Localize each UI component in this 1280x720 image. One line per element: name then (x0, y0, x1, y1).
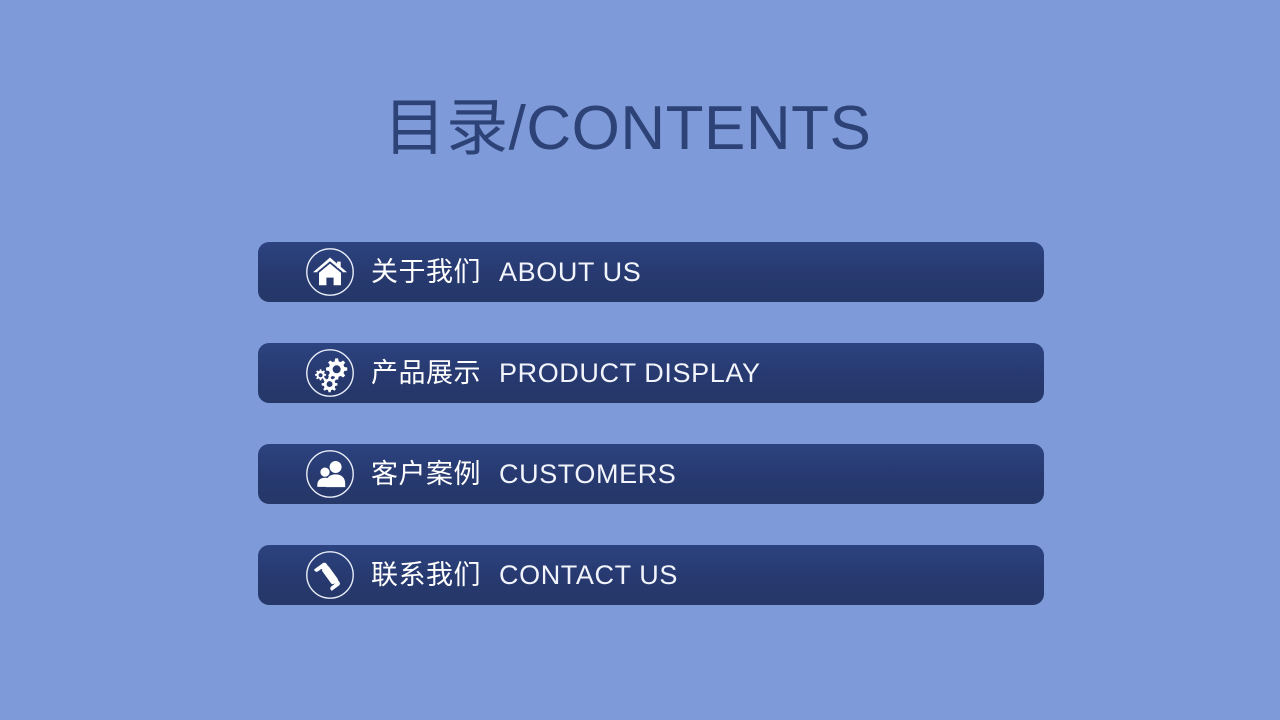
contents-item-customers[interactable]: 客户案例 CUSTOMERS (258, 444, 1044, 504)
home-icon (305, 247, 355, 297)
gears-icon (305, 348, 355, 398)
contents-item-label-cn: 关于我们 (371, 259, 481, 286)
contents-item-label-cn: 客户案例 (371, 461, 481, 488)
contents-item-product-display[interactable]: 产品展示 PRODUCT DISPLAY (258, 343, 1044, 403)
contents-item-label: 联系我们 CONTACT US (371, 562, 678, 589)
contents-list: 关于我们 ABOUT US (258, 242, 1044, 605)
contents-item-label-cn: 产品展示 (371, 360, 481, 387)
contents-item-label-en: ABOUT US (499, 259, 641, 286)
contents-item-label-en: CONTACT US (499, 562, 678, 589)
contents-item-label: 客户案例 CUSTOMERS (371, 461, 676, 488)
page-title: 目录/CONTENTS (384, 96, 872, 161)
contents-item-label-cn: 联系我们 (371, 562, 481, 589)
contents-slide: 目录/CONTENTS 关于我们 ABOUT US (0, 0, 1280, 720)
contents-item-contact-us[interactable]: 联系我们 CONTACT US (258, 545, 1044, 605)
contents-item-label: 关于我们 ABOUT US (371, 259, 641, 286)
contents-item-label: 产品展示 PRODUCT DISPLAY (371, 360, 761, 387)
contents-item-label-en: CUSTOMERS (499, 461, 676, 488)
phone-icon (305, 550, 355, 600)
title-block: 目录/CONTENTS (0, 96, 1255, 161)
contents-item-label-en: PRODUCT DISPLAY (499, 360, 761, 387)
contents-item-about-us[interactable]: 关于我们 ABOUT US (258, 242, 1044, 302)
users-icon (305, 449, 355, 499)
